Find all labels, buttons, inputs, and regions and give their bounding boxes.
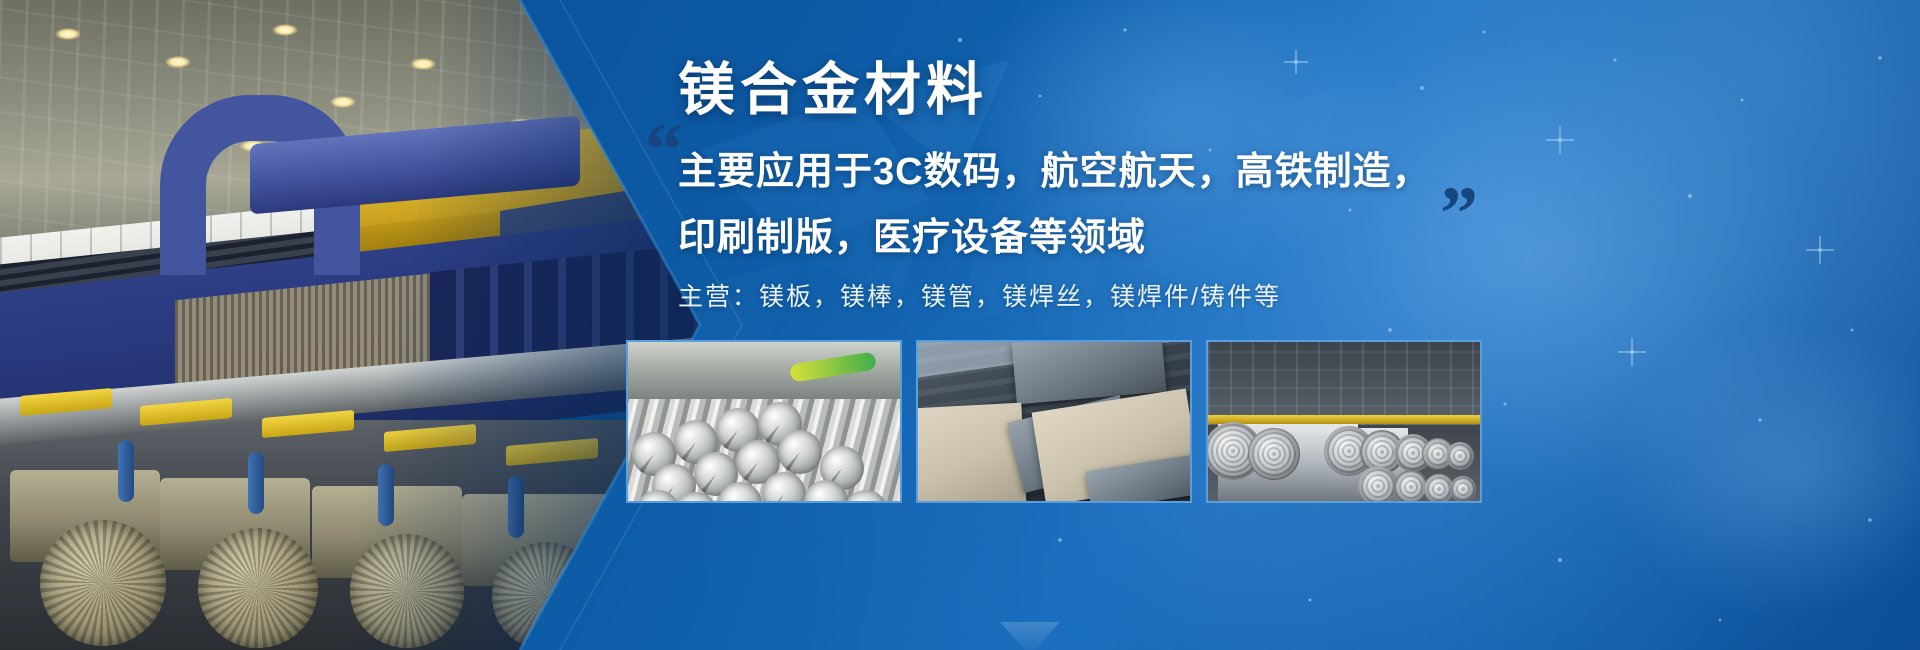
subtitle-line-1: 主要应用于3C数码，航空航天，高铁制造， xyxy=(678,140,1431,195)
subtitle-line-2: 印刷制版，医疗设备等领域 xyxy=(678,206,1146,261)
quote-close-icon: ” xyxy=(1440,176,1478,252)
product-thumbnail-list xyxy=(626,340,1482,503)
product-thumbnail-magnesium-coils[interactable] xyxy=(1206,340,1482,503)
product-thumbnail-magnesium-bars[interactable] xyxy=(626,340,902,503)
product-banner: 镁合金材料 “ 主要应用于3C数码，航空航天，高铁制造， 印刷制版，医疗设备等领… xyxy=(0,0,1920,650)
main-products-text: 主营：镁板，镁棒，镁管，镁焊丝，镁焊件/铸件等 xyxy=(678,277,1281,313)
product-thumbnail-magnesium-plates[interactable] xyxy=(916,340,1192,503)
banner-content: 镁合金材料 “ 主要应用于3C数码，航空航天，高铁制造， 印刷制版，医疗设备等领… xyxy=(0,0,1920,650)
page-title: 镁合金材料 xyxy=(678,44,988,126)
